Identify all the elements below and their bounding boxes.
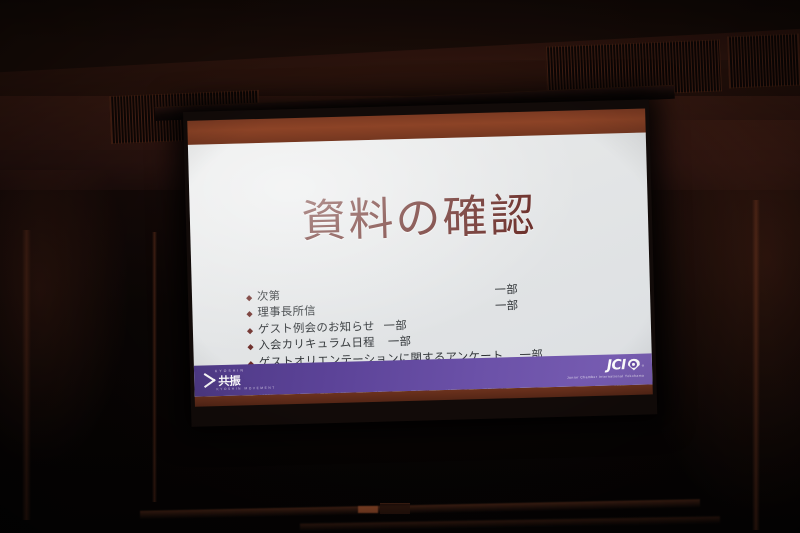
list-item-label: 次第 [257,288,281,305]
room-left-glow [0,170,130,470]
photo-scene: 資料の確認 ◆ 次第 一部 ◆ 理事長所信 一部 ◆ ゲスト例会のお知らせ 一部 [0,0,800,533]
list-item-quantity: 一部 [494,282,518,299]
jci-logo-subtext: Junior Chamber International Yokohama [567,374,644,381]
diamond-bullet-icon: ◆ [246,290,257,307]
jci-pin-shield-icon [628,358,640,372]
jci-trademark-symbol: ® [642,363,644,367]
room-right-glow [630,120,800,520]
list-item-quantity: 一部 [388,334,412,351]
diamond-bullet-icon: ◆ [246,306,257,323]
jci-logo-wordmark: JCI [607,358,626,374]
kyoshin-cross-mark-icon [203,375,216,386]
list-item-quantity: 一部 [383,318,407,335]
diamond-bullet-icon: ◆ [247,339,258,356]
presentation-slide: 資料の確認 ◆ 次第 一部 ◆ 理事長所信 一部 ◆ ゲスト例会のお知らせ 一部 [188,132,653,396]
jci-logo-main: JCI ® [566,358,644,375]
list-item-quantity: 一部 [495,298,519,315]
foreground-rail-highlight [358,506,378,513]
list-item-label: 理事長所信 [257,304,316,322]
room-pillar-left [22,230,31,520]
foreground-equipment-box [380,503,410,514]
kyoshin-logo-name: 共振 [218,374,240,387]
ventilation-grille-far-right [727,34,800,89]
slide-title: 資料の確認 [189,190,648,247]
room-pillar-right [752,200,760,530]
kyoshin-logo: KYOSHIN 共振 KYOSHIN MOVEMENT [203,367,290,392]
projection-screen: 資料の確認 ◆ 次第 一部 ◆ 理事長所信 一部 ◆ ゲスト例会のお知らせ 一部 [183,99,657,426]
diamond-bullet-icon: ◆ [247,323,258,340]
room-wall-edge-left [152,232,157,502]
jci-logo: JCI ® Junior Chamber International Yokoh… [566,358,644,381]
kyoshin-logo-subtext: KYOSHIN MOVEMENT [203,385,289,392]
